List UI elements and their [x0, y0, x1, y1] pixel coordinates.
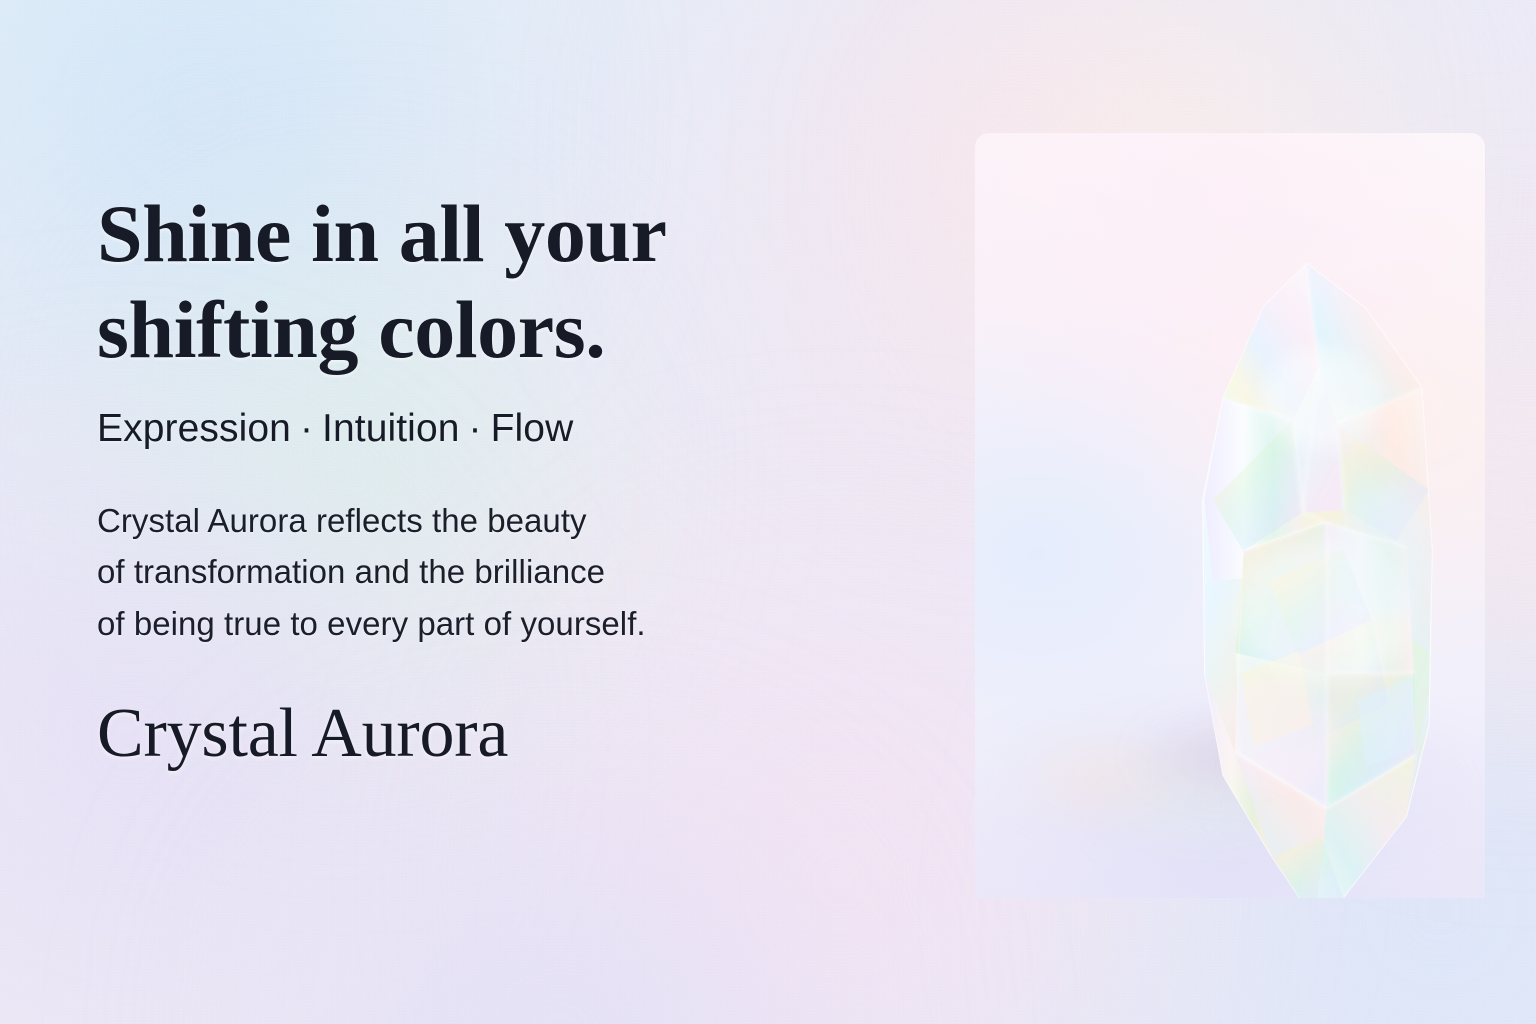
- description-line-3: of being true to every part of yourself.: [97, 598, 917, 649]
- headline-line-1: Shine in all your: [97, 188, 667, 279]
- headline-line-2: shifting colors.: [97, 284, 605, 375]
- attribute-list: Expression·Intuition·Flow: [97, 408, 917, 451]
- attribute-intuition: Intuition: [322, 407, 460, 450]
- brand-name: Crystal Aurora: [97, 699, 917, 769]
- attribute-flow: Flow: [491, 407, 574, 450]
- description-line-2: of transformation and the brilliance: [97, 546, 917, 597]
- bullet-separator-1: ·: [291, 407, 322, 450]
- description-line-1: Crystal Aurora reflects the beauty: [97, 495, 917, 546]
- attribute-expression: Expression: [97, 407, 291, 450]
- headline: Shine in all your shifting colors.: [97, 186, 917, 378]
- crystal-illustration: [975, 133, 1485, 898]
- description-paragraph: Crystal Aurora reflects the beauty of tr…: [97, 495, 917, 649]
- copy-block: Shine in all your shifting colors. Expre…: [97, 186, 917, 769]
- crystal-image-panel: [975, 133, 1485, 898]
- poster-canvas: Shine in all your shifting colors. Expre…: [0, 0, 1536, 1024]
- bullet-separator-2: ·: [460, 407, 491, 450]
